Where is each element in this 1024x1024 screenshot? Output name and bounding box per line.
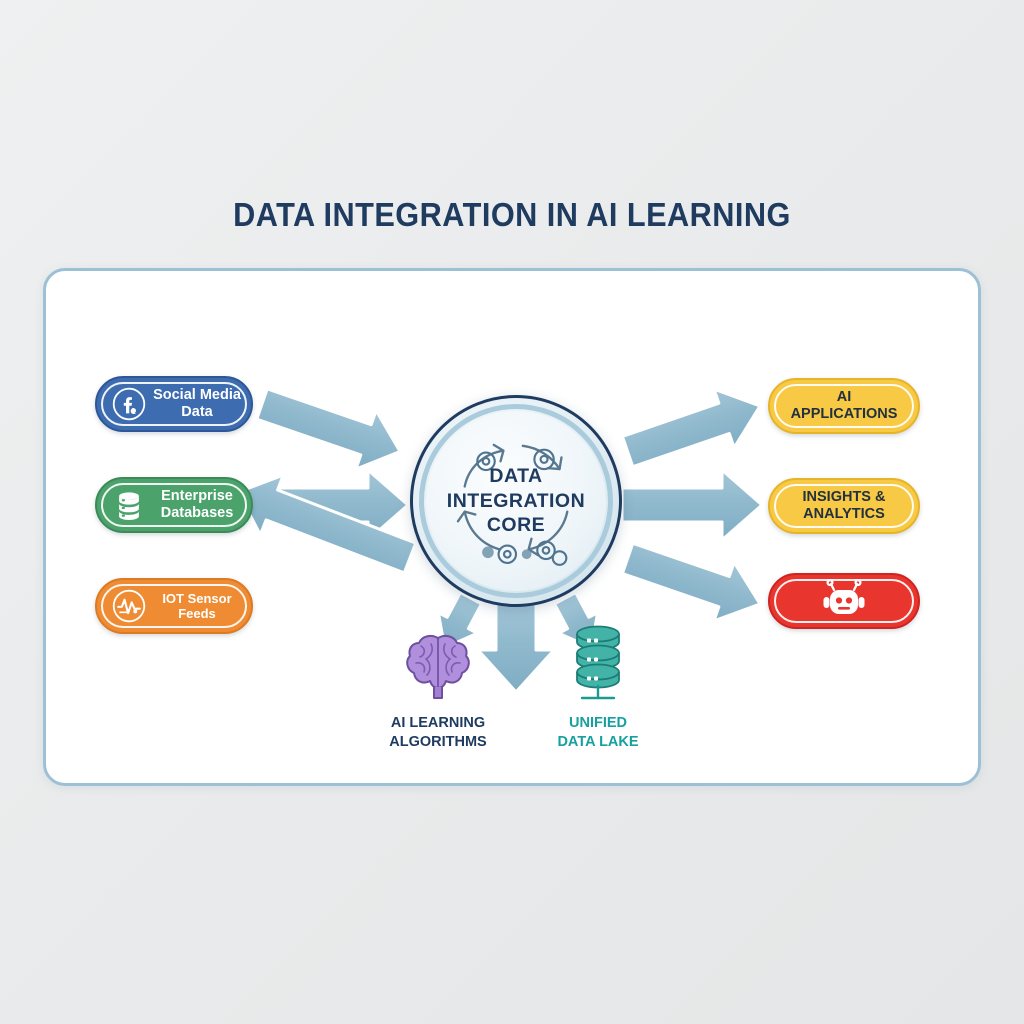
database-stack-icon (562, 622, 634, 702)
robot-icon (818, 578, 870, 624)
output-node-robot[interactable] (768, 573, 920, 629)
source-node-social-media[interactable]: Social Media Data (95, 376, 253, 432)
label-line1: INSIGHTS & (803, 489, 886, 506)
label-line1: AI (791, 389, 898, 406)
page-title: DATA INTEGRATION IN AI LEARNING (36, 196, 988, 234)
output-node-ai-learning-algorithms[interactable]: AI LEARNING ALGORITHMS (370, 628, 506, 752)
database-icon (111, 487, 147, 523)
brain-icon (401, 630, 475, 702)
output-node-unified-data-lake[interactable]: UNIFIED DATA LAKE (530, 622, 666, 752)
label-line1: AI LEARNING (370, 714, 506, 733)
core-label-line1: DATA (447, 464, 585, 489)
source-label-iot-sensor-feeds: IOT Sensor Feeds (147, 591, 251, 622)
pulse-waveform-icon (111, 588, 147, 624)
label-line2: DATA LAKE (530, 733, 666, 752)
source-node-iot-sensor-feeds[interactable]: IOT Sensor Feeds (95, 578, 253, 634)
data-integration-core[interactable]: DATA INTEGRATION CORE (410, 395, 622, 607)
output-node-ai-applications[interactable]: AI APPLICATIONS (768, 378, 920, 434)
label-line1: Social Media (147, 387, 247, 404)
core-label-line3: CORE (447, 513, 585, 538)
label-line2: Data (147, 404, 247, 421)
label-line1: Enterprise (147, 488, 247, 505)
label-line1: UNIFIED (530, 714, 666, 733)
data-lake-icon-wrap (530, 622, 666, 702)
label-line1: IOT Sensor Feeds (147, 591, 247, 622)
source-label-enterprise-databases: Enterprise Databases (147, 488, 251, 522)
brain-icon-wrap (370, 628, 506, 702)
source-node-enterprise-databases[interactable]: Enterprise Databases (95, 477, 253, 533)
diagram-stage: DATA INTEGRATION IN AI LEARNING (0, 0, 1024, 1024)
label-line2: ALGORITHMS (370, 733, 506, 752)
core-label-line2: INTEGRATION (447, 489, 585, 514)
label-line2: ANALYTICS (803, 506, 886, 523)
bottom-label-ai-learning-algorithms: AI LEARNING ALGORITHMS (370, 714, 506, 752)
facebook-icon (111, 386, 147, 422)
output-label-insights-analytics: INSIGHTS & ANALYTICS (803, 489, 886, 523)
output-label-ai-applications: AI APPLICATIONS (791, 389, 898, 423)
core-label: DATA INTEGRATION CORE (447, 464, 585, 538)
source-label-social-media: Social Media Data (147, 387, 251, 421)
bottom-label-unified-data-lake: UNIFIED DATA LAKE (530, 714, 666, 752)
label-line2: Databases (147, 505, 247, 522)
output-node-insights-analytics[interactable]: INSIGHTS & ANALYTICS (768, 478, 920, 534)
label-line2: APPLICATIONS (791, 406, 898, 423)
